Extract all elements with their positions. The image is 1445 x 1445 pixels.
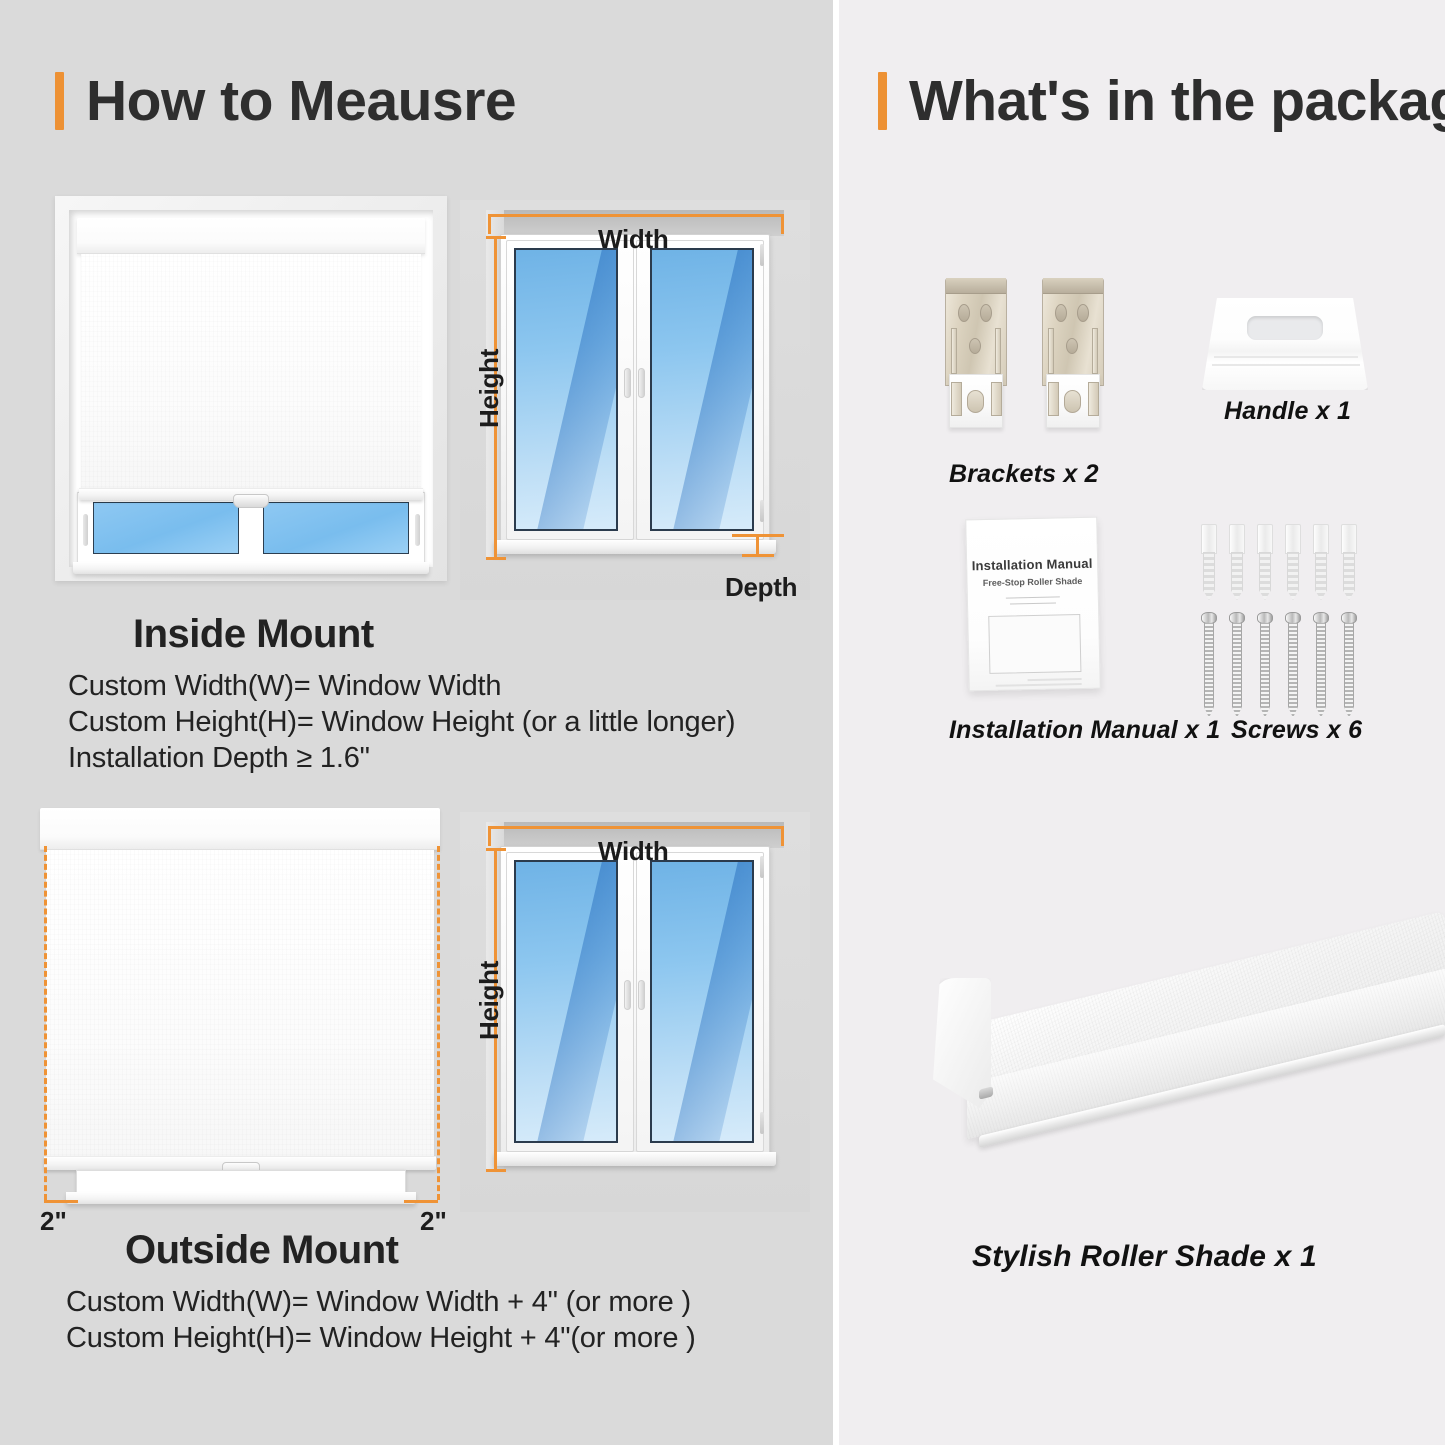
screw-icon xyxy=(1201,612,1217,718)
brackets-label: Brackets x 2 xyxy=(949,460,1099,489)
width-label: Width xyxy=(598,224,668,255)
window-hinge-top-2 xyxy=(760,856,764,878)
height-measure-cap-bottom xyxy=(486,557,506,560)
screw-icon-3 xyxy=(1257,612,1273,718)
outside-mount-spec-1: Custom Width(W)= Window Width + 4" (or m… xyxy=(66,1286,691,1319)
screws-label: Screws x 6 xyxy=(1231,716,1362,745)
depth-label: Depth xyxy=(725,572,797,603)
screw-icon-4 xyxy=(1285,612,1301,718)
inside-mount-spec-2: Custom Height(H)= Window Height (or a li… xyxy=(68,706,735,739)
glass-pane-right xyxy=(263,502,409,554)
how-to-measure-panel: How to Meausre xyxy=(0,0,833,1445)
accent-bar-icon-2 xyxy=(878,72,887,130)
overhang-guide-left xyxy=(44,846,47,1200)
screw-icon-2 xyxy=(1229,612,1245,718)
width-measure-cap-right-2 xyxy=(781,826,784,846)
width-measure-cap-left xyxy=(488,214,491,234)
overhang-arrow-right xyxy=(404,1200,438,1203)
overhang-guide-right xyxy=(437,846,440,1200)
width-measure-line-2 xyxy=(488,826,784,829)
window-sill xyxy=(73,562,429,574)
wall-anchor-icon xyxy=(1199,524,1219,600)
overhang-label-right: 2" xyxy=(420,1206,447,1237)
handle-groove-1 xyxy=(1214,356,1358,358)
wall-anchor-icon-4 xyxy=(1283,524,1303,600)
window-handle-left-2 xyxy=(624,980,631,1010)
package-contents-panel: What's in the package xyxy=(839,0,1445,1445)
outside-mount-title: Outside Mount xyxy=(125,1228,398,1273)
manual-icon: Installation Manual Free-Stop Roller Sha… xyxy=(965,517,1101,692)
manual-label: Installation Manual x 1 xyxy=(949,716,1220,745)
overhang-arrow-left xyxy=(44,1200,78,1203)
inside-mount-spec-1: Custom Width(W)= Window Width xyxy=(68,670,501,703)
height-label: Height xyxy=(474,349,505,428)
handle-icon xyxy=(1202,298,1368,390)
shade-headrail-outside xyxy=(40,808,440,850)
window-handle-left xyxy=(624,368,631,398)
wall-anchor-icon-3 xyxy=(1255,524,1275,600)
manual-image: Installation Manual Free-Stop Roller Sha… xyxy=(959,518,1129,698)
window-glass-left-2 xyxy=(514,860,618,1143)
window-hinge-bottom-2 xyxy=(760,1112,764,1134)
inside-mount-title: Inside Mount xyxy=(133,612,374,657)
glass-pane-left xyxy=(93,502,239,554)
manual-cover-subtitle: Free-Stop Roller Shade xyxy=(967,576,1097,589)
wall-anchor-icon-6 xyxy=(1339,524,1359,600)
shade-fabric-outside xyxy=(46,850,434,1160)
window-glass-right xyxy=(650,248,754,531)
shade-pull-tab xyxy=(233,494,269,508)
window-sill-outside xyxy=(66,1192,416,1204)
shade-headrail xyxy=(77,218,425,254)
wall-anchor-icon-2 xyxy=(1227,524,1247,600)
manual-cover-title: Installation Manual xyxy=(967,556,1097,574)
window-sill-ledge-2 xyxy=(494,1152,776,1166)
left-panel-heading: How to Meausre xyxy=(55,72,516,130)
height-measure-cap-top-2 xyxy=(486,848,506,851)
sash-handle-right xyxy=(415,514,420,546)
window-sill-ledge xyxy=(494,540,776,554)
window-glass-right-2 xyxy=(650,860,754,1143)
bracket-icon-2 xyxy=(1042,278,1104,428)
roller-shade-label: Stylish Roller Shade x 1 xyxy=(972,1240,1317,1274)
width-label-2: Width xyxy=(598,836,668,867)
inside-mount-spec-3: Installation Depth ≥ 1.6" xyxy=(68,742,370,775)
screw-icon-5 xyxy=(1313,612,1329,718)
wall-anchor-icon-5 xyxy=(1311,524,1331,600)
sash-handle-left xyxy=(83,514,88,546)
width-measure-cap-right xyxy=(781,214,784,234)
handle-label: Handle x 1 xyxy=(1224,397,1351,426)
brackets-image xyxy=(937,278,1127,438)
window-hinge-top xyxy=(760,244,764,266)
outside-mount-spec-2: Custom Height(H)= Window Height + 4"(or … xyxy=(66,1322,696,1355)
width-measure-line xyxy=(488,214,784,217)
depth-measure-base xyxy=(742,554,774,557)
height-measure-cap-top xyxy=(486,236,506,239)
outside-mount-shade-illustration xyxy=(40,808,440,1198)
screw-icon-6 xyxy=(1341,612,1357,718)
window-glass-left xyxy=(514,248,618,531)
left-heading-text: How to Meausre xyxy=(86,73,516,130)
handle-slot xyxy=(1247,316,1323,340)
inside-mount-measure-diagram: Width Height Depth xyxy=(460,200,810,600)
infographic-page: How to Meausre xyxy=(0,0,1445,1445)
window-handle-right-2 xyxy=(638,980,645,1010)
height-label-2: Height xyxy=(474,961,505,1040)
shade-fabric xyxy=(81,254,421,492)
window-handle-right xyxy=(638,368,645,398)
handle-groove-2 xyxy=(1212,364,1360,366)
screws-image xyxy=(1197,524,1387,700)
right-panel-heading: What's in the package xyxy=(878,72,1445,130)
roller-shade-image xyxy=(919,880,1445,1210)
accent-bar-icon xyxy=(55,72,64,130)
height-measure-cap-bottom-2 xyxy=(486,1169,506,1172)
overhang-label-left: 2" xyxy=(40,1206,67,1237)
inside-mount-shade-illustration xyxy=(55,196,447,581)
width-measure-cap-left-2 xyxy=(488,826,491,846)
outside-mount-measure-diagram: Width Height xyxy=(460,812,810,1212)
right-heading-text: What's in the package xyxy=(909,73,1445,130)
bracket-icon xyxy=(945,278,1007,428)
window-hinge-bottom xyxy=(760,500,764,522)
depth-measure-stem xyxy=(756,534,759,556)
handle-image xyxy=(1194,298,1384,408)
